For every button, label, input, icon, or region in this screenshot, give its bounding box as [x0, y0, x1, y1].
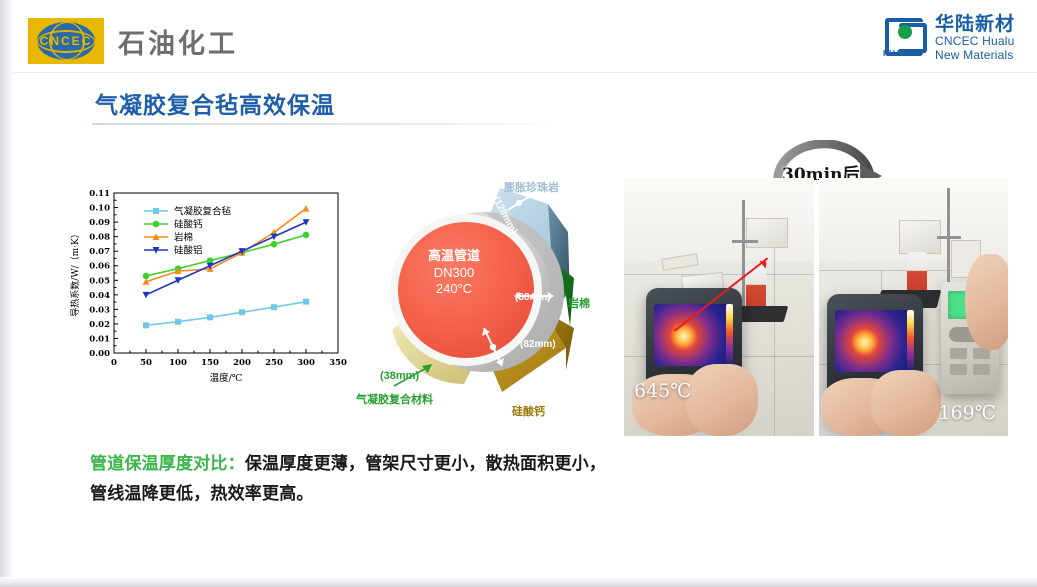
hualu-name-cn: 华陆新材	[935, 14, 1015, 35]
x-tick-label: 150	[201, 358, 219, 368]
x-tick-label: 200	[233, 358, 251, 368]
y-tick-label: 0.00	[89, 349, 110, 359]
data-marker	[153, 208, 159, 214]
caption-highlight: 管道保温厚度对比：	[90, 454, 245, 473]
thermal-photo-pair: 645℃	[624, 178, 1008, 436]
hualu-mark-icon: HUALU	[883, 18, 927, 58]
data-marker	[239, 309, 245, 315]
y-tick-label: 0.08	[89, 233, 110, 243]
title-underline	[92, 123, 556, 125]
legend-label-岩棉: 岩棉	[174, 232, 193, 244]
y-tick-label: 0.02	[89, 320, 110, 330]
y-tick-label: 0.04	[89, 291, 110, 301]
y-tick-label: 0.06	[89, 262, 110, 272]
x-tick-label: 250	[265, 358, 283, 368]
thermal-camera-screen-right	[835, 310, 913, 372]
photo-after: 169℃	[819, 178, 1009, 436]
thermal-conductivity-chart: 0501001502002503003500.000.010.020.030.0…	[66, 185, 348, 397]
cncec-logo: CNCEC 石油化工	[28, 18, 238, 64]
data-marker	[303, 299, 309, 305]
caption-line-1: 保温厚度更薄，管架尺寸更小，散热面积更	[245, 454, 572, 473]
y-axis-title: 导热系数/W/（m·K）	[69, 229, 81, 316]
temperature-before: 645℃	[634, 380, 692, 402]
x-tick-label: 300	[297, 358, 315, 368]
petrochemical-wordmark: 石油化工	[118, 22, 238, 61]
y-tick-label: 0.05	[89, 276, 110, 286]
data-marker	[207, 314, 213, 320]
data-marker	[303, 205, 310, 212]
test-sample-plate-after	[899, 220, 941, 254]
slide: CNCEC 石油化工 HUALU 华陆新材 CNCEC Hualu New Ma…	[0, 0, 1037, 587]
series-line-气凝胶复合毡	[146, 302, 306, 326]
hualu-logo: HUALU 华陆新材 CNCEC Hualu New Materials	[883, 14, 1015, 62]
thickness-rockwool: (68mm)	[515, 292, 551, 303]
data-marker	[271, 304, 277, 310]
hualu-name-en1: CNCEC Hualu	[935, 35, 1015, 48]
label-aerogel: 气凝胶复合材料	[356, 391, 433, 407]
label-perlite: 膨胀珍珠岩	[504, 179, 559, 195]
y-tick-label: 0.11	[89, 189, 110, 199]
test-sample-plate	[746, 218, 788, 248]
legend-label-硅酸钙: 硅酸钙	[174, 219, 203, 231]
hualu-name-en2: New Materials	[935, 49, 1015, 62]
series-line-硅酸铝	[146, 222, 306, 295]
thickness-calcium-silicate: (82mm)	[520, 339, 556, 350]
chart-svg: 0501001502002503003500.000.010.020.030.0…	[66, 185, 348, 397]
data-marker	[143, 292, 150, 299]
hand-holding-meter	[965, 254, 1009, 350]
data-marker	[143, 322, 149, 328]
thermal-color-scale-left	[726, 304, 733, 366]
x-tick-label: 350	[329, 358, 347, 368]
page-title: 气凝胶复合毡高效保温	[95, 86, 335, 120]
thermal-color-scale-right	[907, 310, 914, 372]
data-marker	[153, 221, 160, 228]
thickness-aerogel: (38mm)	[380, 370, 419, 382]
insulation-thickness-diagram: 高温管道 DN300 240°C 膨胀珍珠岩 岩棉 硅酸钙 气凝胶复合材料 (3…	[352, 170, 618, 422]
y-tick-label: 0.10	[89, 204, 110, 214]
legend-label-气凝胶复合毡: 气凝胶复合毡	[174, 206, 232, 218]
label-calcium-silicate: 硅酸钙	[512, 403, 545, 419]
y-tick-label: 0.07	[89, 247, 110, 257]
temperature-after: 169℃	[938, 402, 996, 424]
data-marker	[303, 232, 310, 239]
core-line-2: DN300	[402, 265, 506, 282]
y-tick-label: 0.09	[89, 218, 110, 228]
cncec-mark-icon: CNCEC	[28, 18, 104, 64]
core-line-1: 高温管道	[402, 248, 506, 265]
x-axis-title: 温度/℃	[210, 372, 243, 384]
label-rockwool: 岩棉	[568, 295, 590, 311]
pipe-core-label: 高温管道 DN300 240°C	[402, 248, 506, 298]
hand-left-b	[686, 364, 758, 436]
lab-stand-rod	[742, 200, 745, 310]
data-marker	[175, 319, 181, 325]
hualu-mark-label: HUALU	[883, 50, 914, 58]
lab-stand-clamp-after	[937, 236, 961, 239]
cncec-mark-label: CNCEC	[30, 35, 102, 47]
header-divider	[14, 72, 1037, 73]
series-line-硅酸钙	[146, 235, 306, 276]
x-tick-label: 0	[111, 358, 117, 368]
core-line-3: 240°C	[402, 281, 506, 298]
y-tick-label: 0.01	[89, 334, 110, 344]
x-tick-label: 50	[140, 358, 152, 368]
x-tick-label: 100	[169, 358, 187, 368]
y-tick-label: 0.03	[89, 305, 110, 315]
photo-before: 645℃	[624, 178, 814, 436]
thermal-camera-screen-left	[654, 304, 732, 366]
summary-caption: 管道保温厚度对比：保温厚度更薄，管架尺寸更小，散热面积更小，管线温降更低，热效率…	[90, 449, 610, 509]
legend-label-硅酸铝: 硅酸铝	[174, 245, 203, 257]
lab-stand-clamp	[732, 240, 758, 243]
data-marker	[271, 241, 278, 248]
hand-right-b	[871, 370, 941, 436]
